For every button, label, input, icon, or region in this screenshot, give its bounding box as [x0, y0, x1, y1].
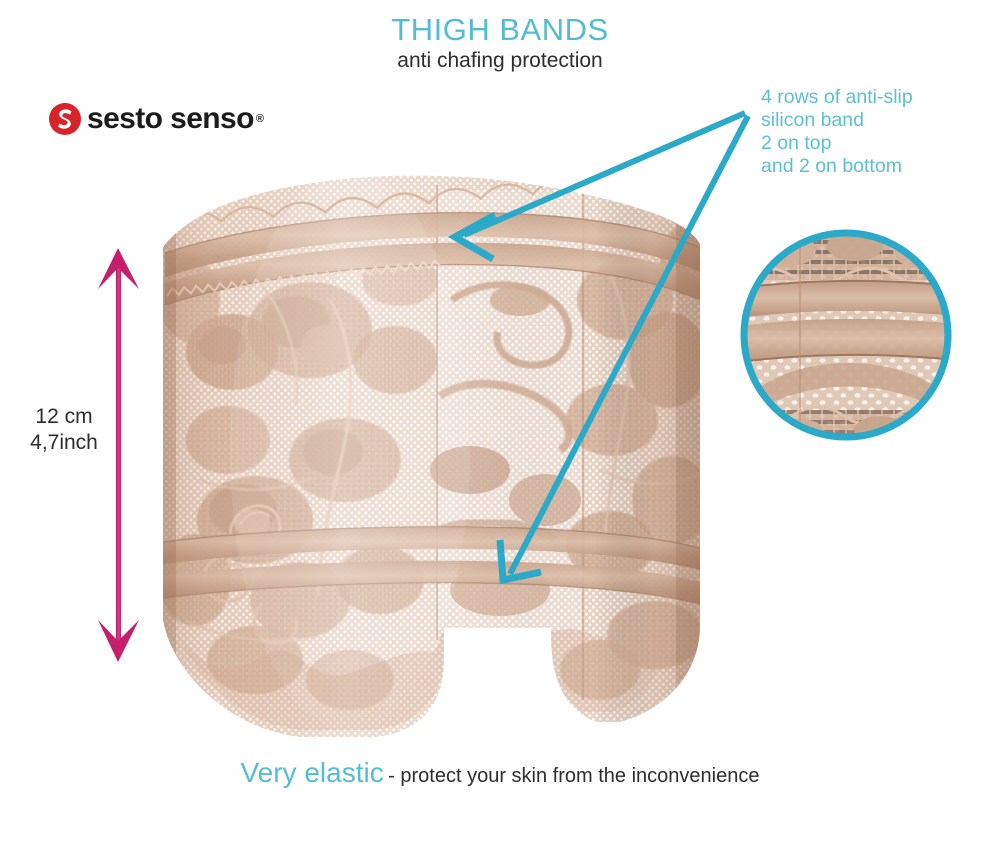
arrow-to-top-silicone-band	[455, 113, 745, 259]
callout-line-3: 2 on top	[761, 132, 991, 155]
silicone-row-top-2	[165, 243, 700, 305]
detail-inset-ring	[744, 233, 948, 437]
page-title: THIGH BANDS	[0, 12, 1000, 48]
silicone-row-bottom-1	[163, 527, 700, 570]
callout-line-4: and 2 on bottom	[761, 155, 991, 178]
measurement-imperial: 4,7inch	[14, 430, 114, 456]
brand-name: sesto senso	[87, 102, 254, 136]
footer-highlight: Very elastic	[241, 757, 384, 788]
arrowhead-down	[98, 620, 139, 662]
silicone-row-bottom-2	[163, 561, 700, 604]
lace-bottom-scallop	[165, 620, 664, 730]
silicone-row-top-1	[165, 213, 700, 277]
brand-logo[interactable]: sesto senso ®	[48, 99, 264, 139]
inset-silicone-strip-1	[740, 281, 955, 318]
arrowhead-up	[98, 248, 139, 289]
inset-silicone-strip-2	[740, 319, 955, 362]
registered-mark: ®	[256, 113, 264, 125]
callout-line-2: silicon band	[761, 109, 991, 132]
infographic-canvas: THIGH BANDS anti chafing protection sest…	[0, 0, 1000, 843]
footer-rest: - protect your skin from the inconvenien…	[388, 765, 759, 787]
lace-scallop-edges	[169, 173, 636, 226]
detail-inset-image	[740, 228, 955, 450]
measurement-metric: 12 cm	[14, 404, 114, 430]
callout-line-1: 4 rows of anti-slip	[761, 86, 991, 109]
lace-band-body	[150, 160, 720, 760]
measurement-label: 12 cm 4,7inch	[14, 404, 114, 456]
arrow-to-bottom-silicone-band	[500, 116, 748, 580]
page-subtitle: anti chafing protection	[0, 49, 1000, 73]
sesto-senso-s-mark-icon	[48, 102, 82, 136]
callout-silicone-rows: 4 rows of anti-slip silicon band 2 on to…	[761, 86, 991, 178]
footer-tagline: Very elastic - protect your skin from th…	[0, 757, 1000, 789]
